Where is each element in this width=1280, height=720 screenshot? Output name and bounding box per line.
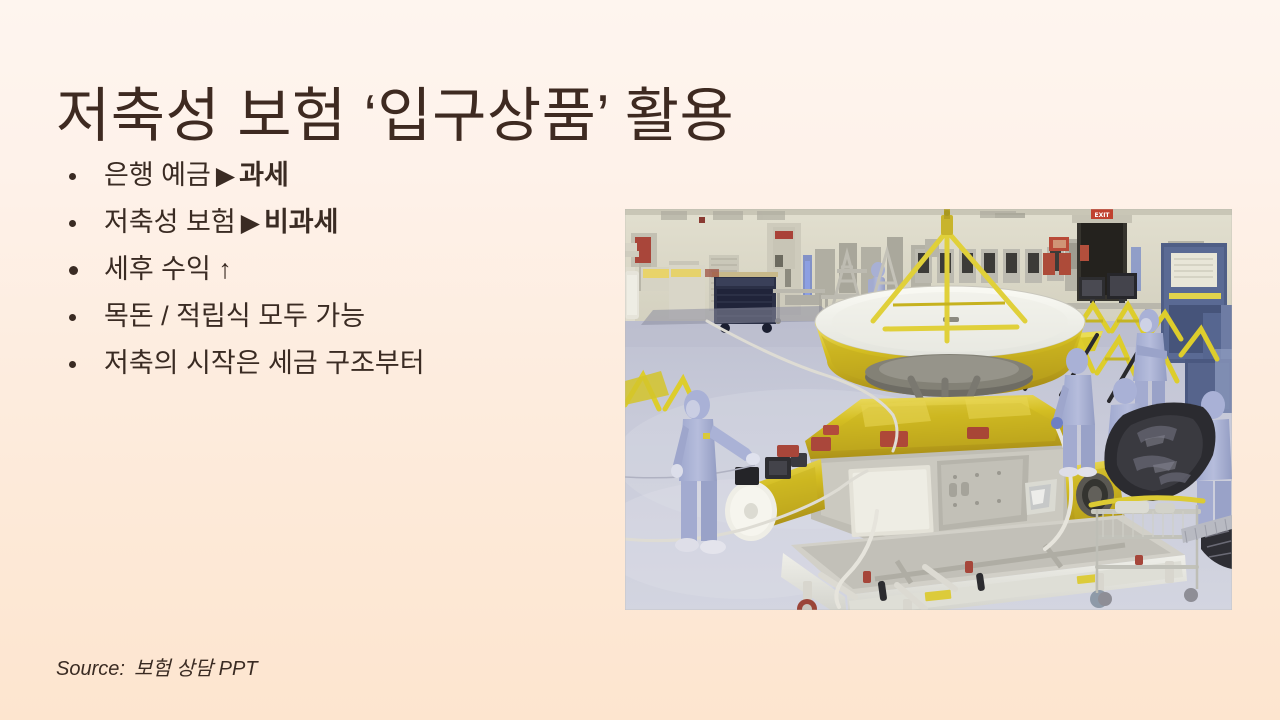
list-item: 은행 예금▶과세 xyxy=(56,152,601,199)
list-item: 저축성 보험▶비과세 xyxy=(56,199,601,246)
triangle-right-icon: ▶ xyxy=(236,209,264,237)
bullet-list: 은행 예금▶과세 저축성 보험▶비과세 세후 수익 ↑ 목돈 / 적립식 모두 … xyxy=(56,152,601,387)
spacecraft-cleanroom-photo: EXIT xyxy=(625,209,1232,610)
bullet-text: 목돈 / 적립식 모두 가능 xyxy=(104,300,365,332)
source-value: 보험 상담 PPT xyxy=(125,658,258,680)
bullet-lead: 저축성 보험 xyxy=(104,207,236,237)
bullet-dot-icon xyxy=(69,361,76,368)
slide-canvas: 저축성 보험 ‘입구상품’ 활용 은행 예금▶과세 저축성 보험▶비과세 세후 … xyxy=(0,0,1280,720)
bullet-text: 저축성 보험▶비과세 xyxy=(104,206,338,238)
triangle-right-icon: ▶ xyxy=(211,162,239,190)
source-label: Source: xyxy=(56,658,125,680)
list-item: 세후 수익 ↑ xyxy=(56,246,601,293)
svg-text:EXIT: EXIT xyxy=(1094,212,1110,219)
bullet-text: 은행 예금▶과세 xyxy=(104,159,289,191)
page-title: 저축성 보험 ‘입구상품’ 활용 xyxy=(56,82,1156,152)
bullet-lead: 은행 예금 xyxy=(104,160,211,190)
list-item: 목돈 / 적립식 모두 가능 xyxy=(56,293,601,340)
bullet-dot-icon xyxy=(69,266,78,275)
bullet-emphasis: 비과세 xyxy=(264,207,339,237)
bullet-dot-icon xyxy=(69,173,76,180)
bullet-lead: 저축의 시작은 세금 구조부터 xyxy=(104,348,425,378)
bullet-emphasis: 과세 xyxy=(239,160,289,190)
bullet-text: 세후 수익 ↑ xyxy=(104,253,232,285)
source-caption: Source:보험 상담 PPT xyxy=(56,652,258,681)
bullet-dot-icon xyxy=(69,314,76,321)
bullet-lead: 세후 수익 ↑ xyxy=(104,254,232,284)
list-item: 저축의 시작은 세금 구조부터 xyxy=(56,340,601,387)
bullet-lead: 목돈 / 적립식 모두 가능 xyxy=(104,301,365,331)
bullet-text: 저축의 시작은 세금 구조부터 xyxy=(104,347,425,379)
bullet-dot-icon xyxy=(69,220,76,227)
